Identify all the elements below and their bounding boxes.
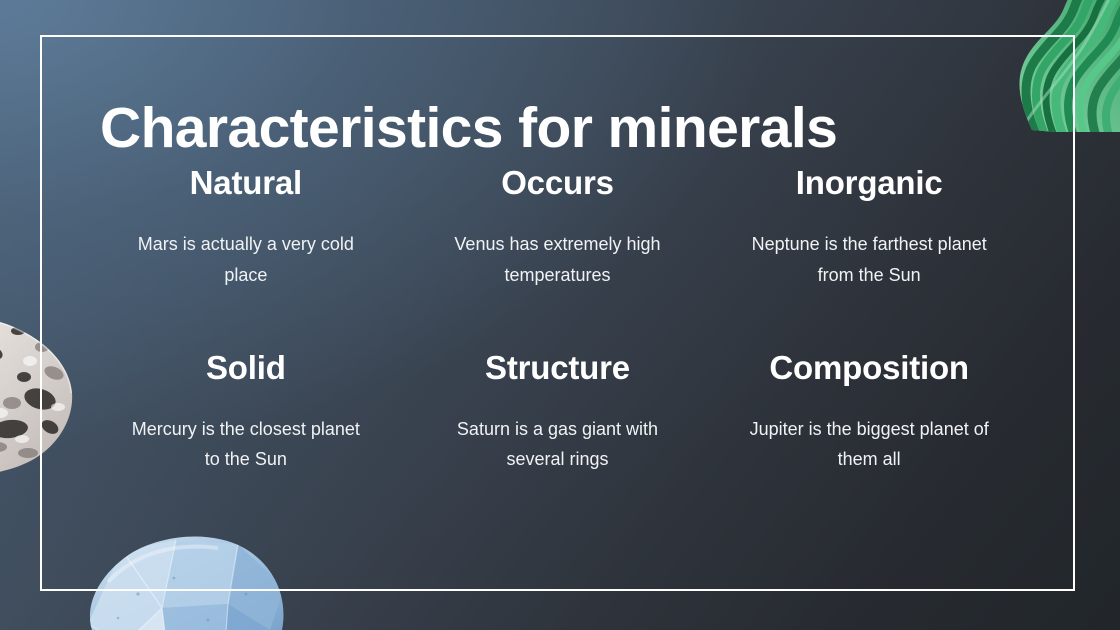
presentation-slide: Characteristics for minerals Natural Mar… <box>0 0 1120 630</box>
characteristic-item-occurs: Occurs Venus has extremely high temperat… <box>402 165 714 290</box>
characteristic-heading: Composition <box>727 350 1011 386</box>
characteristic-body: Saturn is a gas giant with several rings <box>416 414 700 474</box>
characteristic-heading: Structure <box>416 350 700 386</box>
characteristic-item-solid: Solid Mercury is the closest planet to t… <box>90 350 402 475</box>
characteristic-item-natural: Natural Mars is actually a very cold pla… <box>90 165 402 290</box>
characteristic-body: Neptune is the farthest planet from the … <box>727 229 1011 289</box>
characteristic-item-structure: Structure Saturn is a gas giant with sev… <box>402 350 714 475</box>
characteristic-body: Jupiter is the biggest planet of them al… <box>727 414 1011 474</box>
characteristic-item-composition: Composition Jupiter is the biggest plane… <box>713 350 1025 475</box>
slide-content: Characteristics for minerals Natural Mar… <box>40 35 1075 591</box>
characteristic-heading: Natural <box>104 165 388 201</box>
characteristic-body: Mars is actually a very cold place <box>104 229 388 289</box>
characteristic-body: Venus has extremely high temperatures <box>416 229 700 289</box>
characteristic-heading: Occurs <box>416 165 700 201</box>
characteristic-heading: Solid <box>104 350 388 386</box>
characteristic-item-inorganic: Inorganic Neptune is the farthest planet… <box>713 165 1025 290</box>
characteristics-grid: Natural Mars is actually a very cold pla… <box>90 165 1025 475</box>
characteristic-heading: Inorganic <box>727 165 1011 201</box>
page-title: Characteristics for minerals <box>100 99 837 159</box>
characteristic-body: Mercury is the closest planet to the Sun <box>104 414 388 474</box>
